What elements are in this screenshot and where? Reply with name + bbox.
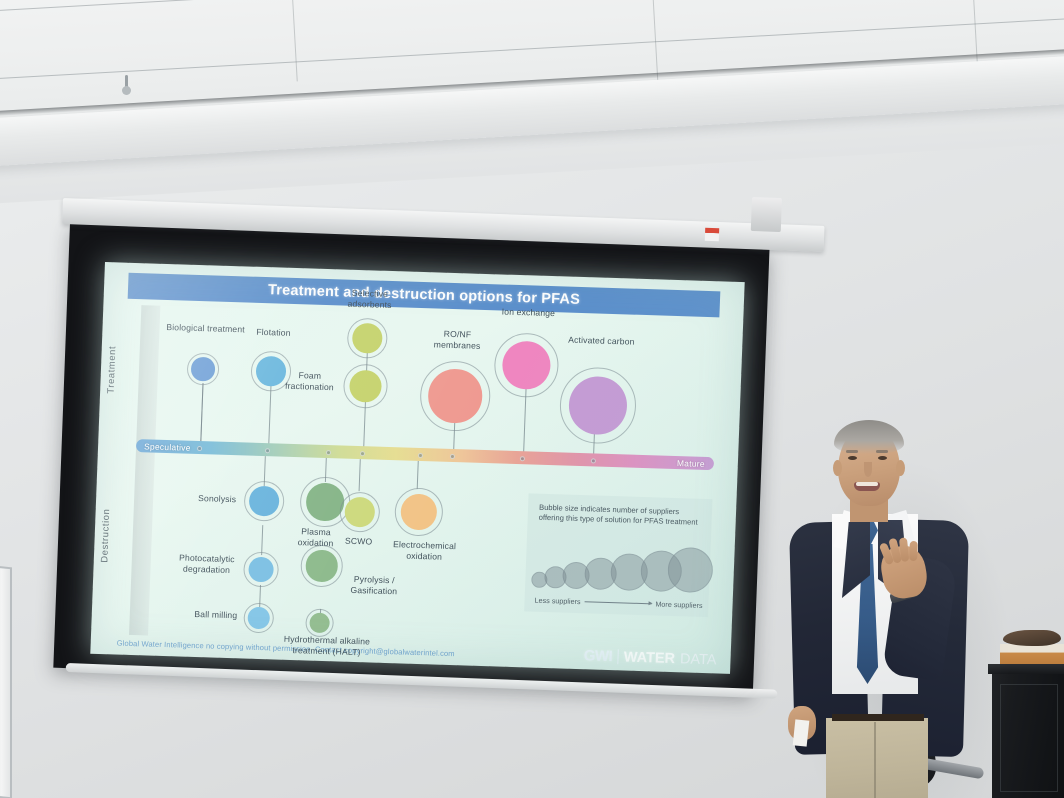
trouser-seam	[874, 722, 876, 798]
spectrum-label-mature: Mature	[677, 456, 714, 470]
spectrum-label-speculative: Speculative	[136, 439, 191, 454]
bubble-label-sonolysis: Sonolysis	[188, 493, 246, 505]
bubble-label-photocatalytic-degradation: Photocatalytic degradation	[169, 552, 244, 575]
finger	[909, 541, 918, 561]
screen-label-sticker	[705, 228, 719, 242]
screen-housing-endcap	[751, 197, 782, 232]
ear-left	[833, 460, 842, 476]
bubble-stem	[268, 383, 271, 447]
legend-scale-axis: Less suppliers More suppliers	[534, 596, 702, 610]
belt	[832, 714, 924, 721]
nose	[864, 462, 872, 477]
bubble-label-halt: Hydrothermal alkaline treatment (HALT)	[276, 634, 377, 658]
bubble-stem	[417, 461, 419, 489]
bubble-activated-carbon[interactable]	[559, 366, 638, 444]
bubble-biological-treatment[interactable]	[186, 353, 219, 386]
bubble-stem	[359, 459, 361, 491]
bubble-label-ball-milling: Ball milling	[188, 609, 244, 621]
eye-right	[878, 456, 887, 460]
axis-label-destruction: Destruction	[98, 498, 112, 572]
eyebrow-left	[846, 450, 858, 453]
bubble-label-electrochemical-oxidation: Electrochemical oxidation	[386, 539, 463, 562]
bubble-label-ion-exchange: Ion exchange	[491, 306, 565, 319]
category-axis-rail	[129, 305, 160, 635]
bubble-label-foam-fractionation: Foam fractionation	[276, 369, 343, 392]
bubble-halt[interactable]	[305, 608, 334, 637]
teeth	[856, 482, 878, 486]
bubble-electrochemical-oxidation[interactable]	[394, 487, 444, 536]
logo-divider	[617, 649, 619, 664]
presenter	[786, 418, 1016, 798]
bubble-label-selective-adsorbents: Selective adsorbents	[331, 287, 408, 310]
bubble-label-activated-carbon: Activated carbon	[566, 335, 636, 348]
bubble-label-pyrolysis-gasification: Pyrolysis / Gasification	[341, 574, 408, 597]
logo-word-water: WATER	[623, 649, 675, 667]
gwi-waterdata-logo: GWI WATER DATA	[583, 647, 716, 668]
bubble-ion-exchange[interactable]	[493, 332, 559, 398]
logo-word-data: DATA	[680, 651, 717, 668]
ceiling-tile-seam	[289, 0, 297, 81]
bubble-scwo[interactable]	[339, 492, 380, 533]
bubble-selective-adsorbents[interactable]	[347, 318, 388, 359]
bubble-size-legend: Bubble size indicates number of supplier…	[524, 493, 712, 617]
axis-label-treatment: Treatment	[104, 333, 118, 407]
eyebrow-right	[876, 450, 888, 453]
legend-label-more: More suppliers	[655, 599, 702, 609]
trousers	[826, 718, 928, 798]
bubble-stem	[200, 383, 203, 445]
photo-scene: Treatment and destruction options for PF…	[0, 0, 1064, 798]
maturity-spectrum-bar[interactable]: Speculative Mature	[136, 439, 714, 470]
ear-right	[896, 460, 905, 476]
bubble-photocatalytic-degradation[interactable]	[243, 552, 279, 588]
projected-slide: Treatment and destruction options for PF…	[90, 262, 744, 674]
whiteboard	[0, 565, 12, 798]
eye-left	[848, 456, 857, 460]
slide-title: Treatment and destruction options for PF…	[128, 273, 721, 318]
bubble-label-ro-nf-membranes: RO/NF membranes	[420, 328, 495, 351]
bubble-label-biological-treatment: Biological treatment	[164, 322, 246, 335]
bubble-sonolysis[interactable]	[243, 480, 284, 521]
bubble-stem	[261, 525, 263, 555]
bubble-ball-milling[interactable]	[243, 603, 274, 634]
legend-size-ramp	[531, 542, 709, 593]
bubble-label-flotation: Flotation	[244, 326, 302, 338]
legend-description: Bubble size indicates number of supplier…	[538, 503, 703, 529]
sprinkler-head-icon	[122, 75, 131, 97]
legend-bubble	[667, 547, 714, 593]
legend-arrow-icon	[585, 601, 652, 604]
paper-note	[793, 719, 810, 746]
bubble-pyrolysis-gasification[interactable]	[300, 544, 344, 587]
bubble-label-scwo: SCWO	[337, 535, 381, 547]
ceiling-tile-line	[0, 0, 1064, 13]
legend-label-less: Less suppliers	[534, 596, 580, 606]
gwi-mark: GWI	[583, 647, 612, 665]
hair	[834, 420, 904, 454]
bubble-ro-nf-membranes[interactable]	[419, 360, 492, 432]
bubble-foam-fractionation[interactable]	[343, 364, 389, 409]
